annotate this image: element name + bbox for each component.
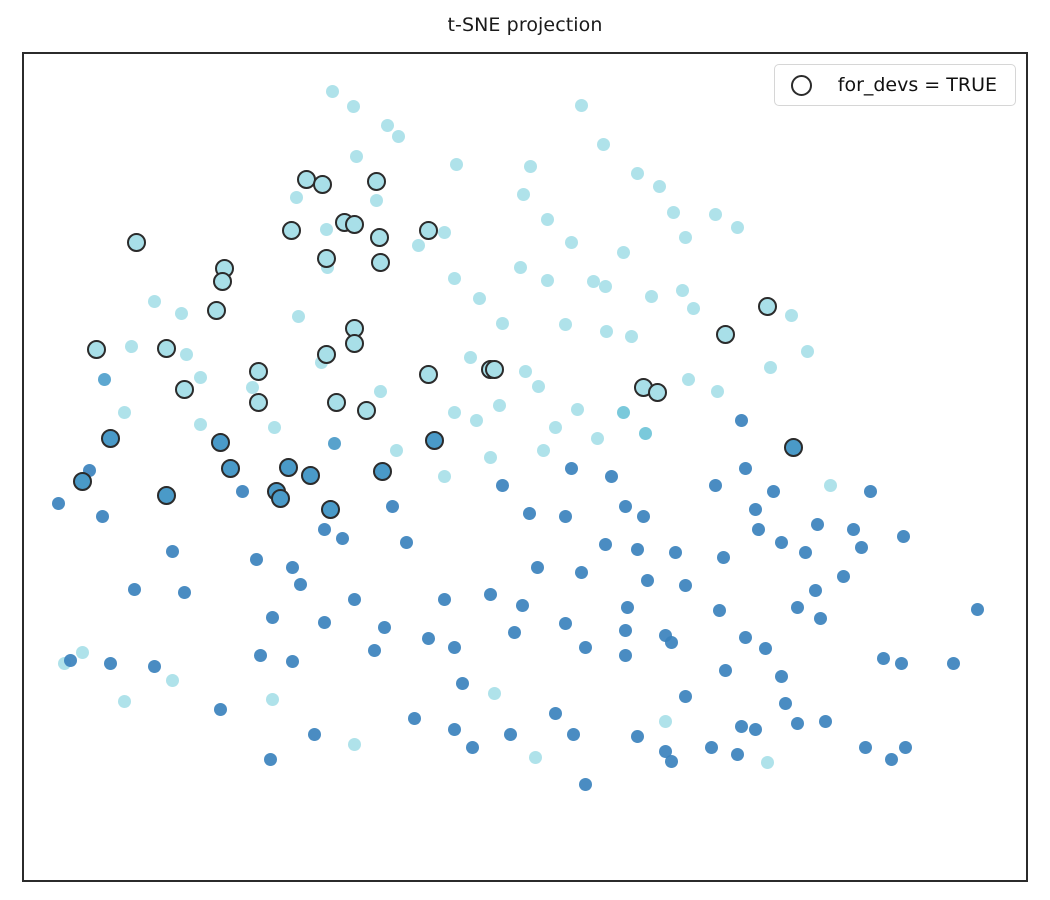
scatter-point (575, 566, 588, 579)
scatter-point (559, 318, 572, 331)
scatter-point (679, 231, 692, 244)
scatter-point (496, 479, 509, 492)
scatter-point (214, 703, 227, 716)
scatter-point (809, 584, 822, 597)
scatter-point (450, 158, 463, 171)
scatter-point (438, 593, 451, 606)
scatter-point (637, 510, 650, 523)
scatter-point (318, 523, 331, 536)
scatter-point (438, 226, 451, 239)
scatter-point (523, 507, 536, 520)
scatter-point (194, 371, 207, 384)
scatter-point-highlighted (101, 429, 120, 448)
scatter-point (617, 406, 630, 419)
scatter-point (591, 432, 604, 445)
tsne-figure: t-SNE projection for_devs = TRUE (0, 0, 1050, 900)
scatter-point (514, 261, 527, 274)
scatter-point (412, 239, 425, 252)
scatter-point (266, 611, 279, 624)
scatter-point (194, 418, 207, 431)
scatter-point (370, 194, 383, 207)
scatter-point (713, 604, 726, 617)
scatter-point (653, 180, 666, 193)
scatter-point-highlighted (301, 466, 320, 485)
scatter-point (96, 510, 109, 523)
scatter-point (600, 325, 613, 338)
scatter-point (709, 479, 722, 492)
scatter-point (464, 351, 477, 364)
scatter-point-highlighted (716, 325, 735, 344)
scatter-point (791, 717, 804, 730)
scatter-point (885, 753, 898, 766)
scatter-point (264, 753, 277, 766)
scatter-point (541, 213, 554, 226)
scatter-point (390, 444, 403, 457)
scatter-point-highlighted (87, 340, 106, 359)
scatter-point (814, 612, 827, 625)
scatter-point-highlighted (419, 365, 438, 384)
scatter-point (631, 730, 644, 743)
scatter-point (448, 406, 461, 419)
scatter-point (104, 657, 117, 670)
scatter-point (368, 644, 381, 657)
scatter-point (631, 167, 644, 180)
scatter-point (516, 599, 529, 612)
scatter-point (665, 755, 678, 768)
scatter-point-highlighted (211, 433, 230, 452)
scatter-point (619, 649, 632, 662)
scatter-point (785, 309, 798, 322)
scatter-point (641, 574, 654, 587)
scatter-point-highlighted (345, 215, 364, 234)
scatter-point (739, 462, 752, 475)
scatter-point (320, 223, 333, 236)
scatter-point-highlighted (425, 431, 444, 450)
scatter-point (667, 206, 680, 219)
scatter-point-highlighted (313, 175, 332, 194)
scatter-point (466, 741, 479, 754)
scatter-point (599, 280, 612, 293)
scatter-point (767, 485, 780, 498)
scatter-point (665, 636, 678, 649)
scatter-point (565, 236, 578, 249)
scatter-point (847, 523, 860, 536)
scatter-point (761, 756, 774, 769)
scatter-point (236, 485, 249, 498)
scatter-point (378, 621, 391, 634)
scatter-point (537, 444, 550, 457)
scatter-point-highlighted (784, 438, 803, 457)
scatter-point-highlighted (271, 489, 290, 508)
scatter-point (438, 470, 451, 483)
scatter-point (559, 510, 572, 523)
scatter-point (422, 632, 435, 645)
scatter-point-highlighted (371, 253, 390, 272)
scatter-point-highlighted (73, 472, 92, 491)
scatter-point-highlighted (175, 380, 194, 399)
scatter-point-highlighted (249, 393, 268, 412)
scatter-point (64, 654, 77, 667)
scatter-point (824, 479, 837, 492)
scatter-points-layer (24, 54, 1026, 880)
scatter-point-highlighted (207, 301, 226, 320)
scatter-point (749, 503, 762, 516)
scatter-point (166, 545, 179, 558)
scatter-point (682, 373, 695, 386)
scatter-point (268, 421, 281, 434)
scatter-point (504, 728, 517, 741)
scatter-point (676, 284, 689, 297)
scatter-point (52, 497, 65, 510)
scatter-point-highlighted (419, 221, 438, 240)
scatter-point (605, 470, 618, 483)
scatter-point (350, 150, 363, 163)
scatter-point (318, 616, 331, 629)
scatter-point (180, 348, 193, 361)
scatter-point (290, 191, 303, 204)
scatter-point (549, 421, 562, 434)
scatter-point (679, 690, 692, 703)
scatter-point (456, 677, 469, 690)
scatter-point (645, 290, 658, 303)
scatter-point-highlighted (345, 334, 364, 353)
scatter-point (496, 317, 509, 330)
scatter-point (484, 588, 497, 601)
scatter-point (148, 660, 161, 673)
scatter-point (118, 695, 131, 708)
scatter-point-highlighted (221, 459, 240, 478)
scatter-point (859, 741, 872, 754)
scatter-point (759, 642, 772, 655)
scatter-point (76, 646, 89, 659)
scatter-point (549, 707, 562, 720)
scatter-point (799, 546, 812, 559)
scatter-point (639, 427, 652, 440)
scatter-point (519, 365, 532, 378)
scatter-point (779, 697, 792, 710)
scatter-point (719, 664, 732, 677)
scatter-point (731, 748, 744, 761)
scatter-point (448, 723, 461, 736)
scatter-point (571, 403, 584, 416)
legend-entry-label: for_devs = TRUE (838, 74, 997, 96)
scatter-point (735, 720, 748, 733)
scatter-point (166, 674, 179, 687)
scatter-point (348, 738, 361, 751)
scatter-point-highlighted (485, 360, 504, 379)
scatter-point (400, 536, 413, 549)
scatter-point (567, 728, 580, 741)
scatter-point (336, 532, 349, 545)
scatter-point-highlighted (157, 339, 176, 358)
scatter-point (752, 523, 765, 536)
scatter-point (679, 579, 692, 592)
scatter-point (971, 603, 984, 616)
scatter-point (749, 723, 762, 736)
scatter-point (473, 292, 486, 305)
scatter-point-highlighted (213, 272, 232, 291)
scatter-point (565, 462, 578, 475)
scatter-point (250, 553, 263, 566)
scatter-point (597, 138, 610, 151)
scatter-point (386, 500, 399, 513)
scatter-point (98, 373, 111, 386)
chart-legend[interactable]: for_devs = TRUE (774, 64, 1016, 106)
scatter-point (619, 624, 632, 637)
scatter-point-highlighted (127, 233, 146, 252)
scatter-point (529, 751, 542, 764)
scatter-point (764, 361, 777, 374)
scatter-point (791, 601, 804, 614)
scatter-point (819, 715, 832, 728)
scatter-point (294, 578, 307, 591)
scatter-point-highlighted (317, 345, 336, 364)
scatter-point (579, 778, 592, 791)
scatter-point (484, 451, 497, 464)
scatter-point-highlighted (373, 462, 392, 481)
scatter-point (531, 561, 544, 574)
scatter-point (541, 274, 554, 287)
scatter-point (811, 518, 824, 531)
scatter-point (625, 330, 638, 343)
scatter-point (619, 500, 632, 513)
scatter-point (717, 551, 730, 564)
scatter-point (254, 649, 267, 662)
scatter-point-highlighted (648, 383, 667, 402)
scatter-point (587, 275, 600, 288)
scatter-point (631, 543, 644, 556)
scatter-point (517, 188, 530, 201)
scatter-point (575, 99, 588, 112)
scatter-point (178, 586, 191, 599)
scatter-point (731, 221, 744, 234)
scatter-point (947, 657, 960, 670)
scatter-point (470, 414, 483, 427)
scatter-point (559, 617, 572, 630)
scatter-point (864, 485, 877, 498)
scatter-point (837, 570, 850, 583)
scatter-point (621, 601, 634, 614)
page-title: t-SNE projection (0, 14, 1050, 36)
scatter-point (709, 208, 722, 221)
scatter-point (532, 380, 545, 393)
scatter-point (488, 687, 501, 700)
scatter-point (348, 593, 361, 606)
scatter-point-highlighted (327, 393, 346, 412)
scatter-point (775, 536, 788, 549)
scatter-point-highlighted (370, 228, 389, 247)
scatter-point (392, 130, 405, 143)
scatter-point-highlighted (282, 221, 301, 240)
scatter-point-highlighted (321, 500, 340, 519)
scatter-point (687, 302, 700, 315)
scatter-point (292, 310, 305, 323)
scatter-point (326, 85, 339, 98)
scatter-point (599, 538, 612, 551)
scatter-point (408, 712, 421, 725)
scatter-point (448, 272, 461, 285)
scatter-point (735, 414, 748, 427)
plot-area: for_devs = TRUE (22, 52, 1028, 882)
scatter-point (118, 406, 131, 419)
scatter-point (739, 631, 752, 644)
scatter-point-highlighted (249, 362, 268, 381)
scatter-point (877, 652, 890, 665)
scatter-point (448, 641, 461, 654)
scatter-point (711, 385, 724, 398)
scatter-point (524, 160, 537, 173)
scatter-point (125, 340, 138, 353)
scatter-point (659, 715, 672, 728)
scatter-point (286, 561, 299, 574)
scatter-point (669, 546, 682, 559)
scatter-point-highlighted (279, 458, 298, 477)
scatter-point (705, 741, 718, 754)
scatter-point-highlighted (357, 401, 376, 420)
scatter-point (128, 583, 141, 596)
scatter-point (381, 119, 394, 132)
scatter-point (175, 307, 188, 320)
scatter-point-highlighted (157, 486, 176, 505)
scatter-point (347, 100, 360, 113)
scatter-point (286, 655, 299, 668)
scatter-point (493, 399, 506, 412)
scatter-point (855, 541, 868, 554)
legend-marker-circle-icon (791, 75, 812, 96)
scatter-point (374, 385, 387, 398)
scatter-point (328, 437, 341, 450)
scatter-point (775, 670, 788, 683)
scatter-point (617, 246, 630, 259)
scatter-point (148, 295, 161, 308)
scatter-point-highlighted (758, 297, 777, 316)
scatter-point (308, 728, 321, 741)
scatter-point (895, 657, 908, 670)
scatter-point (899, 741, 912, 754)
scatter-point (897, 530, 910, 543)
scatter-point-highlighted (367, 172, 386, 191)
scatter-point (579, 641, 592, 654)
scatter-point (508, 626, 521, 639)
scatter-point (266, 693, 279, 706)
scatter-point (801, 345, 814, 358)
